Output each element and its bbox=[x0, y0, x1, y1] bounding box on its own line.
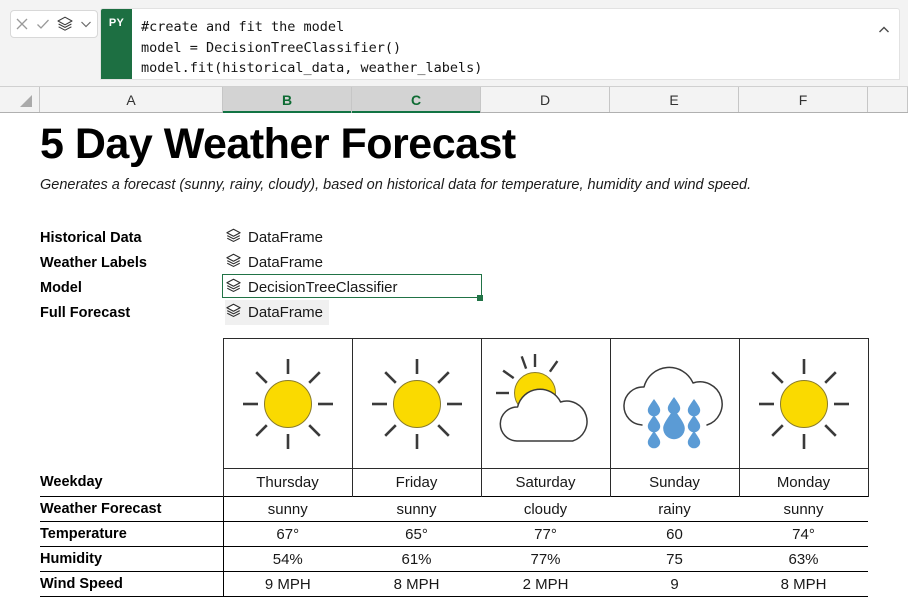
parameter-value-cell[interactable]: DataFrame bbox=[225, 225, 329, 250]
worksheet-body: 5 Day Weather Forecast Generates a forec… bbox=[0, 113, 908, 604]
temperature-cell-2: 77° bbox=[481, 522, 610, 547]
parameter-label: Weather Labels bbox=[40, 255, 225, 271]
temperature-row: Temperature 67° 65° 77° 60 74° bbox=[40, 522, 868, 547]
parameter-value-cell[interactable]: DecisionTreeClassifier bbox=[225, 275, 404, 300]
weather-forecast-cell-2: cloudy bbox=[481, 497, 610, 522]
row-label-weather-forecast: Weather Forecast bbox=[40, 497, 223, 522]
weather-forecast-row: Weather Forecast sunny sunny cloudy rain… bbox=[40, 497, 868, 522]
parameter-value-text: DataFrame bbox=[248, 229, 323, 246]
row-label-temperature: Temperature bbox=[40, 522, 223, 547]
humidity-cell-3: 75 bbox=[610, 547, 739, 572]
humidity-row: Humidity 54% 61% 77% 75 63% bbox=[40, 547, 868, 572]
sunny-icon bbox=[740, 349, 868, 459]
layers-icon bbox=[225, 227, 248, 248]
weekday-cell-0: Thursday bbox=[223, 469, 352, 497]
parameter-value-text: DecisionTreeClassifier bbox=[248, 279, 398, 296]
sunny-icon bbox=[224, 349, 352, 459]
weekday-row: Weekday Thursday Friday Saturday Sunday … bbox=[40, 469, 868, 497]
column-header-row: ABCDEF bbox=[0, 87, 908, 113]
layers-icon bbox=[225, 302, 248, 323]
python-badge: PY bbox=[101, 9, 132, 80]
formula-bar: PY #create and fit the model model = Dec… bbox=[0, 0, 908, 87]
humidity-cell-2: 77% bbox=[481, 547, 610, 572]
parameter-row: Weather LabelsDataFrame bbox=[40, 250, 490, 275]
weekday-cell-1: Friday bbox=[352, 469, 481, 497]
parameter-label: Full Forecast bbox=[40, 305, 225, 321]
formula-code-text[interactable]: #create and fit the model model = Decisi… bbox=[141, 17, 873, 79]
column-header-c[interactable]: C bbox=[352, 87, 481, 112]
parameter-row: Full ForecastDataFrame bbox=[40, 300, 490, 325]
humidity-cell-4: 63% bbox=[739, 547, 868, 572]
page-title: 5 Day Weather Forecast bbox=[40, 120, 516, 169]
sunny-icon bbox=[353, 349, 481, 459]
wind-speed-cell-4: 8 MPH bbox=[739, 572, 868, 597]
wind-speed-cell-2: 2 MPH bbox=[481, 572, 610, 597]
chevron-up-icon[interactable] bbox=[875, 21, 893, 39]
column-header-d[interactable]: D bbox=[481, 87, 610, 112]
weather-forecast-cell-0: sunny bbox=[223, 497, 352, 522]
weekday-cell-3: Sunday bbox=[610, 469, 739, 497]
humidity-cell-0: 54% bbox=[223, 547, 352, 572]
formula-input-card[interactable]: PY #create and fit the model model = Dec… bbox=[100, 8, 900, 80]
weekday-cell-2: Saturday bbox=[481, 469, 610, 497]
formula-bar-controls bbox=[10, 10, 98, 38]
wind-speed-cell-1: 8 MPH bbox=[352, 572, 481, 597]
row-label-wind-speed: Wind Speed bbox=[40, 572, 223, 597]
parameter-value-cell[interactable]: DataFrame bbox=[225, 300, 329, 325]
forecast-table: Weekday Thursday Friday Saturday Sunday … bbox=[40, 338, 869, 597]
weather-icon-cell-3 bbox=[610, 339, 739, 469]
parameter-value-cell[interactable]: DataFrame bbox=[225, 250, 329, 275]
weather-forecast-cell-1: sunny bbox=[352, 497, 481, 522]
wind-speed-cell-0: 9 MPH bbox=[223, 572, 352, 597]
temperature-cell-3: 60 bbox=[610, 522, 739, 547]
weather-forecast-cell-3: rainy bbox=[610, 497, 739, 522]
weather-icon-cell-1 bbox=[352, 339, 481, 469]
icon-row-spacer bbox=[40, 339, 223, 469]
weather-icon-cell-4 bbox=[739, 339, 868, 469]
parameter-label: Historical Data bbox=[40, 230, 225, 246]
chevron-down-icon[interactable] bbox=[77, 15, 95, 33]
temperature-cell-1: 65° bbox=[352, 522, 481, 547]
weather-icon-cell-2 bbox=[481, 339, 610, 469]
page-subtitle: Generates a forecast (sunny, rainy, clou… bbox=[40, 177, 751, 193]
layers-icon[interactable] bbox=[56, 15, 74, 33]
fill-handle[interactable] bbox=[477, 295, 483, 301]
select-all-corner[interactable] bbox=[0, 87, 40, 112]
partly-cloudy-icon bbox=[482, 349, 610, 459]
layers-icon bbox=[225, 277, 248, 298]
column-header-b[interactable]: B bbox=[223, 87, 352, 112]
rainy-icon bbox=[611, 349, 739, 459]
weekday-cell-4: Monday bbox=[739, 469, 868, 497]
temperature-cell-4: 74° bbox=[739, 522, 868, 547]
weather-icon-cell-0 bbox=[223, 339, 352, 469]
column-header-a[interactable]: A bbox=[40, 87, 223, 112]
parameter-value-text: DataFrame bbox=[248, 304, 323, 321]
check-icon[interactable] bbox=[34, 15, 52, 33]
weather-forecast-cell-4: sunny bbox=[739, 497, 868, 522]
humidity-cell-1: 61% bbox=[352, 547, 481, 572]
wind-speed-row: Wind Speed 9 MPH 8 MPH 2 MPH 9 8 MPH bbox=[40, 572, 868, 597]
column-header-partial[interactable] bbox=[868, 87, 908, 112]
parameter-row: Historical DataDataFrame bbox=[40, 225, 490, 250]
layers-icon bbox=[225, 252, 248, 273]
column-header-e[interactable]: E bbox=[610, 87, 739, 112]
row-label-humidity: Humidity bbox=[40, 547, 223, 572]
row-label-weekday: Weekday bbox=[40, 469, 223, 497]
parameter-row: ModelDecisionTreeClassifier bbox=[40, 275, 490, 300]
column-header-f[interactable]: F bbox=[739, 87, 868, 112]
parameter-value-text: DataFrame bbox=[248, 254, 323, 271]
parameter-list: Historical DataDataFrameWeather LabelsDa… bbox=[40, 225, 490, 325]
icon-row bbox=[40, 339, 868, 469]
wind-speed-cell-3: 9 bbox=[610, 572, 739, 597]
temperature-cell-0: 67° bbox=[223, 522, 352, 547]
parameter-label: Model bbox=[40, 280, 225, 296]
close-icon[interactable] bbox=[13, 15, 31, 33]
